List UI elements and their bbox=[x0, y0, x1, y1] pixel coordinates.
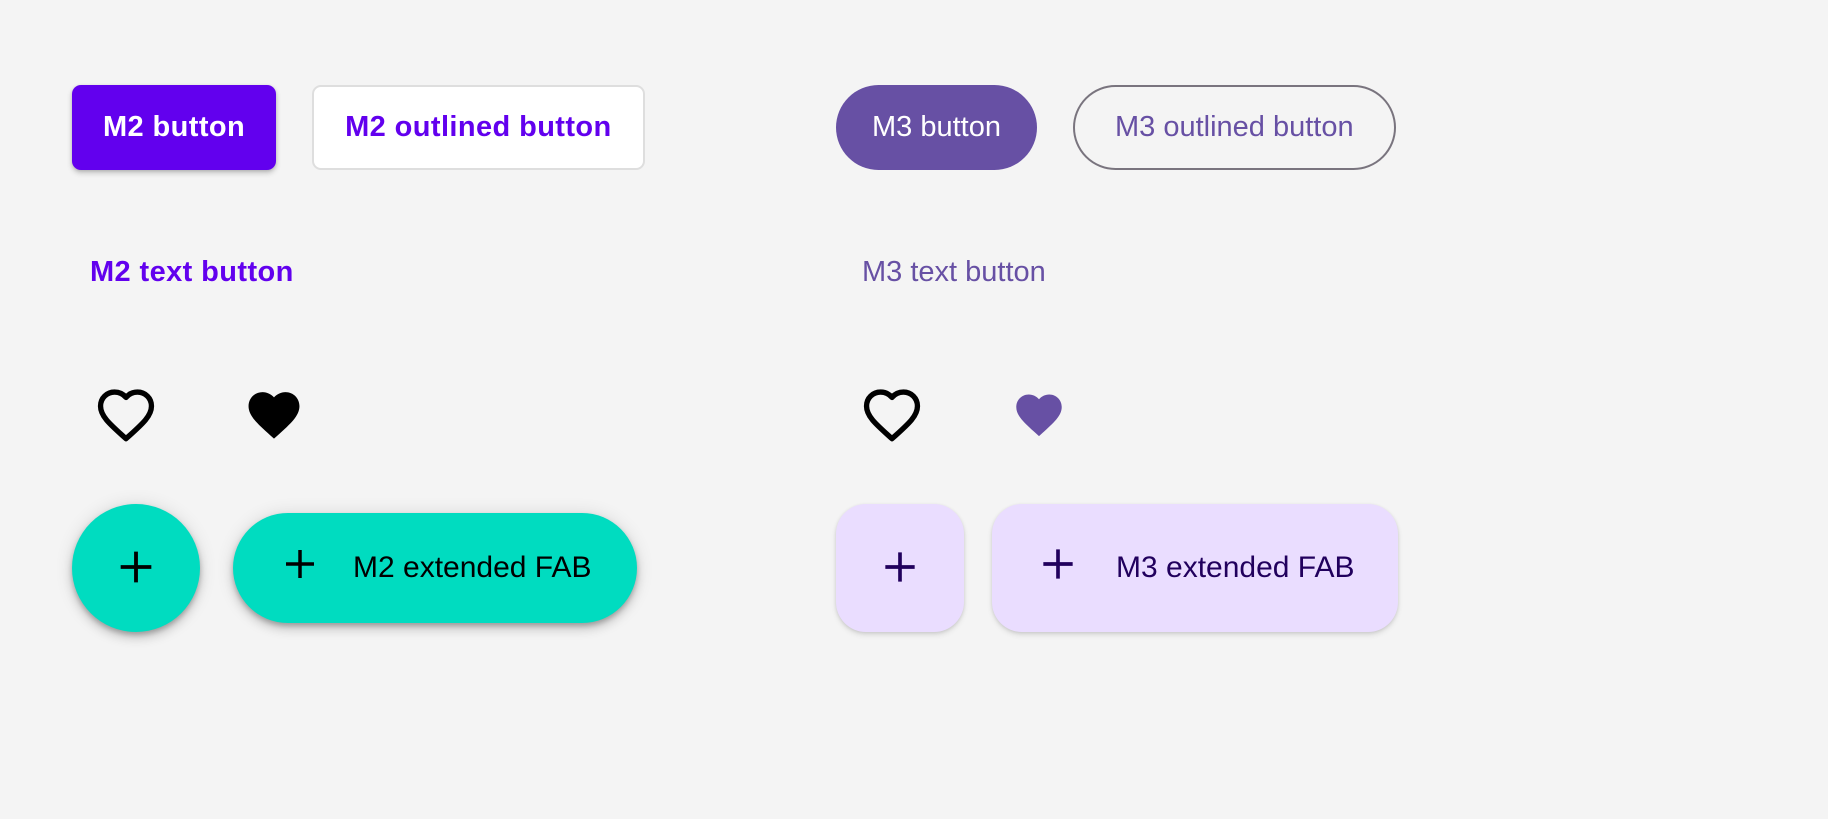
heart-outline-icon bbox=[861, 387, 923, 443]
m2-icon-row bbox=[72, 380, 305, 450]
m2-fab[interactable] bbox=[72, 504, 200, 632]
m3-filled-button[interactable]: M3 button bbox=[836, 85, 1037, 170]
m3-extended-fab[interactable]: M3 extended FAB bbox=[992, 504, 1398, 632]
m2-text-button-row: M2 text button bbox=[72, 248, 294, 296]
m2-extended-fab[interactable]: M2 extended FAB bbox=[233, 513, 637, 623]
component-comparison-stage: M2 button M2 outlined button M2 text but… bbox=[0, 0, 1828, 819]
plus-icon bbox=[878, 545, 922, 592]
m3-extended-fab-label: M3 extended FAB bbox=[1116, 551, 1354, 585]
m3-heart-filled-icon-button[interactable] bbox=[1011, 390, 1067, 440]
m3-text-button[interactable]: M3 text button bbox=[862, 256, 1046, 289]
m3-column: M3 button M3 outlined button M3 text but… bbox=[836, 0, 1616, 819]
m3-fab-row: M3 extended FAB bbox=[836, 500, 1398, 636]
plus-icon bbox=[279, 543, 321, 593]
m2-filled-button[interactable]: M2 button bbox=[72, 85, 276, 170]
plus-icon bbox=[113, 544, 159, 593]
m2-heart-outline-icon-button[interactable] bbox=[95, 387, 157, 443]
heart-filled-icon bbox=[243, 387, 305, 443]
m3-heart-outline-icon-button[interactable] bbox=[861, 387, 923, 443]
m2-text-button[interactable]: M2 text button bbox=[90, 256, 294, 289]
m2-heart-filled-icon-button[interactable] bbox=[243, 387, 305, 443]
m3-text-button-row: M3 text button bbox=[836, 248, 1046, 296]
m2-column: M2 button M2 outlined button M2 text but… bbox=[72, 0, 812, 819]
m2-outlined-button[interactable]: M2 outlined button bbox=[312, 85, 645, 170]
plus-icon bbox=[1036, 542, 1080, 594]
heart-filled-icon bbox=[1011, 390, 1067, 440]
m3-fab[interactable] bbox=[836, 504, 964, 632]
m2-fab-row: M2 extended FAB bbox=[72, 500, 637, 636]
m2-extended-fab-label: M2 extended FAB bbox=[353, 551, 591, 585]
m2-button-row: M2 button M2 outlined button bbox=[72, 85, 645, 170]
m3-button-row: M3 button M3 outlined button bbox=[836, 85, 1396, 170]
m3-icon-row bbox=[836, 380, 1067, 450]
m3-outlined-button[interactable]: M3 outlined button bbox=[1073, 85, 1396, 170]
heart-outline-icon bbox=[95, 387, 157, 443]
